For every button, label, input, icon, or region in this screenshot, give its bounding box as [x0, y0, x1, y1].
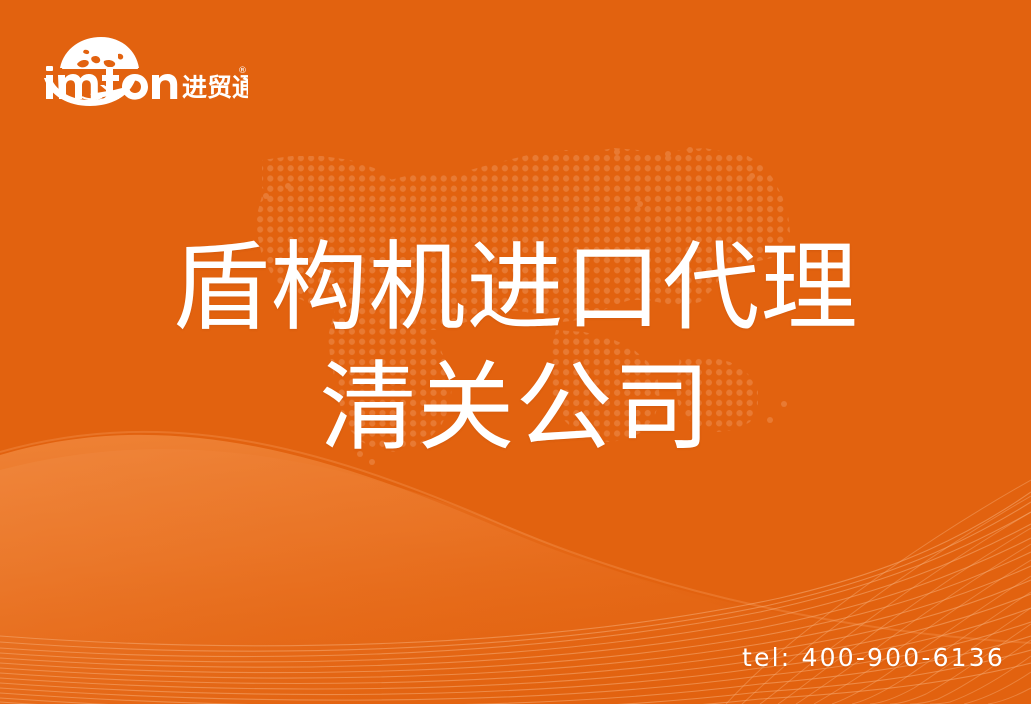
- promotional-banner: 进贸通 ® 盾构机进口代理 清关公司 tel: 400-900-6136: [0, 0, 1031, 704]
- swoosh-airplane-graphic: [38, 76, 248, 116]
- registered-trademark-icon: ®: [238, 66, 247, 76]
- page-title: 盾构机进口代理 清关公司: [0, 228, 1031, 469]
- company-logo[interactable]: 进贸通 ®: [38, 28, 248, 100]
- headline-line-2: 清关公司: [0, 348, 1031, 468]
- headline-line-1: 盾构机进口代理: [0, 228, 1031, 348]
- globe-icon: [60, 37, 139, 69]
- contact-phone[interactable]: tel: 400-900-6136: [742, 643, 1005, 672]
